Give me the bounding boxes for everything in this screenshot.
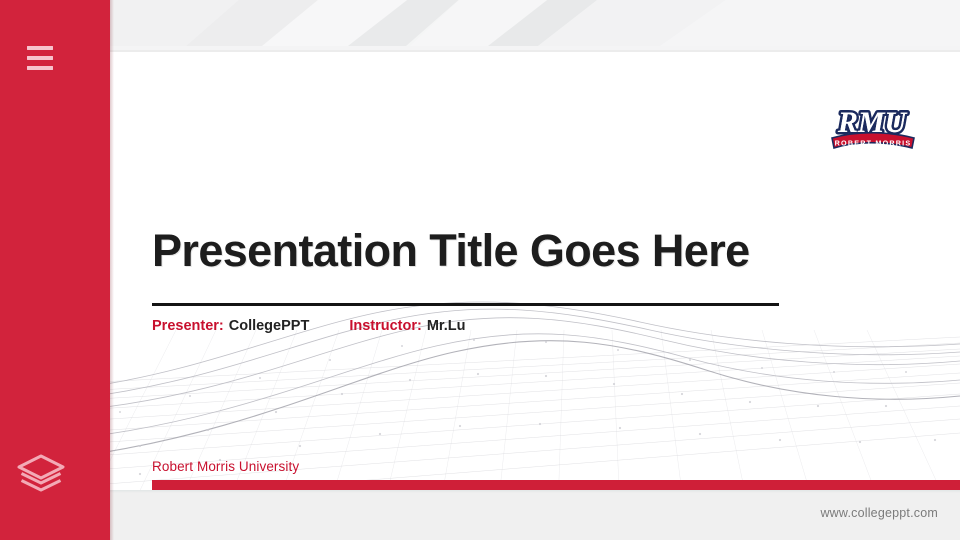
left-sidebar (0, 0, 110, 540)
hamburger-line (27, 46, 53, 50)
hamburger-line (27, 66, 53, 70)
slide-canvas: RMU RMU ROBERT MORRIS Presentation Title… (80, 52, 960, 490)
footer-seam (0, 490, 960, 493)
page-title: Presentation Title Goes Here (152, 224, 912, 278)
svg-text:ROBERT MORRIS: ROBERT MORRIS (835, 139, 912, 148)
top-decoration-band (0, 0, 960, 52)
footer-bar: www.collegeppt.com (0, 490, 960, 540)
hamburger-menu-icon[interactable] (27, 46, 53, 70)
presenter-label: Presenter: (152, 318, 224, 334)
credits-line: Presenter: CollegePPT Instructor: Mr.Lu (152, 318, 465, 334)
hamburger-line (27, 56, 53, 60)
slide-accent-bar (152, 480, 960, 490)
sidebar-shadow (110, 0, 114, 540)
title-divider (152, 303, 779, 306)
presenter-value: CollegePPT (229, 318, 310, 334)
wireframe-mesh-decoration (80, 260, 960, 490)
university-name: Robert Morris University (152, 459, 299, 474)
rmu-logo-graphic: RMU RMU ROBERT MORRIS (822, 100, 922, 158)
mesh-graphic (80, 260, 960, 490)
presentation-window: RMU RMU ROBERT MORRIS Presentation Title… (0, 0, 960, 540)
instructor-label: Instructor: (349, 318, 422, 334)
layers-glyph (13, 446, 69, 502)
slide-content: RMU RMU ROBERT MORRIS Presentation Title… (80, 52, 960, 490)
instructor-value: Mr.Lu (427, 318, 466, 334)
rmu-logo: RMU RMU ROBERT MORRIS (822, 100, 922, 158)
layers-stack-icon[interactable] (13, 446, 69, 502)
swoosh-graphic (0, 0, 960, 52)
footer-url: www.collegeppt.com (820, 506, 938, 520)
